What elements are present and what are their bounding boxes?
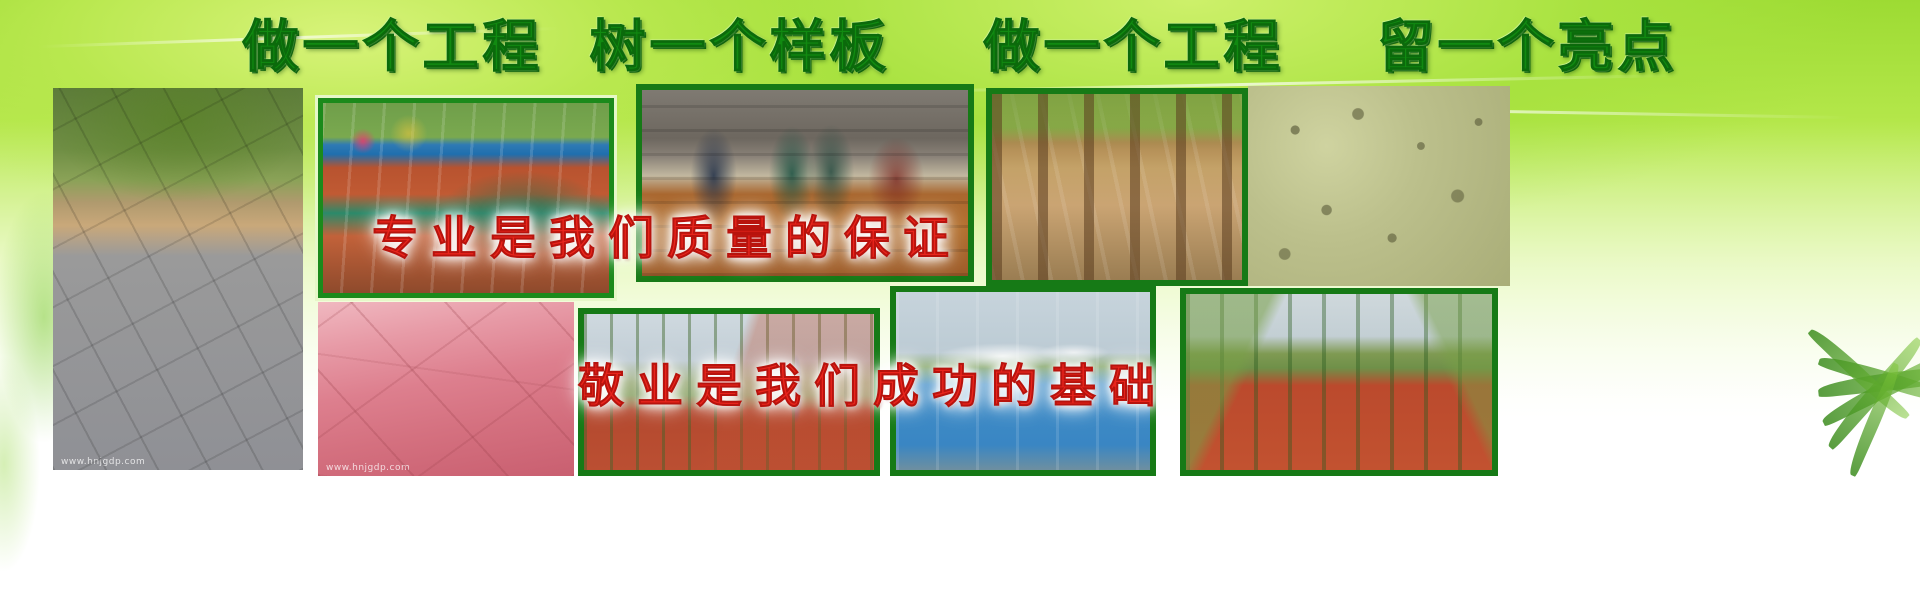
slogan-quality: 专业是我们质量的保证 — [372, 212, 962, 264]
photo-colored-playground-pavement — [318, 98, 614, 298]
photo-red-permeable-park-road — [1180, 288, 1498, 476]
photo-stone-texture-surface — [1248, 86, 1510, 286]
photo-watermark: www.hnjgdp.com — [61, 457, 145, 467]
photo-wood-grain-fence-walkway — [986, 88, 1248, 286]
promotional-banner: 做一个工程 树一个样板 做一个工程 留一个亮点 www.hnjgdp.com w… — [0, 0, 1920, 600]
headline-slogan: 做一个工程 树一个样板 做一个工程 留一个亮点 — [0, 14, 1920, 82]
photo-watermark: www.hnjgdp.com — [326, 463, 410, 473]
photo-stamped-concrete-path: www.hnjgdp.com — [53, 88, 303, 470]
slogan-dedication: 敬业是我们成功的基础 — [578, 360, 1168, 412]
photo-pink-stamped-concrete: www.hnjgdp.com — [318, 302, 574, 476]
